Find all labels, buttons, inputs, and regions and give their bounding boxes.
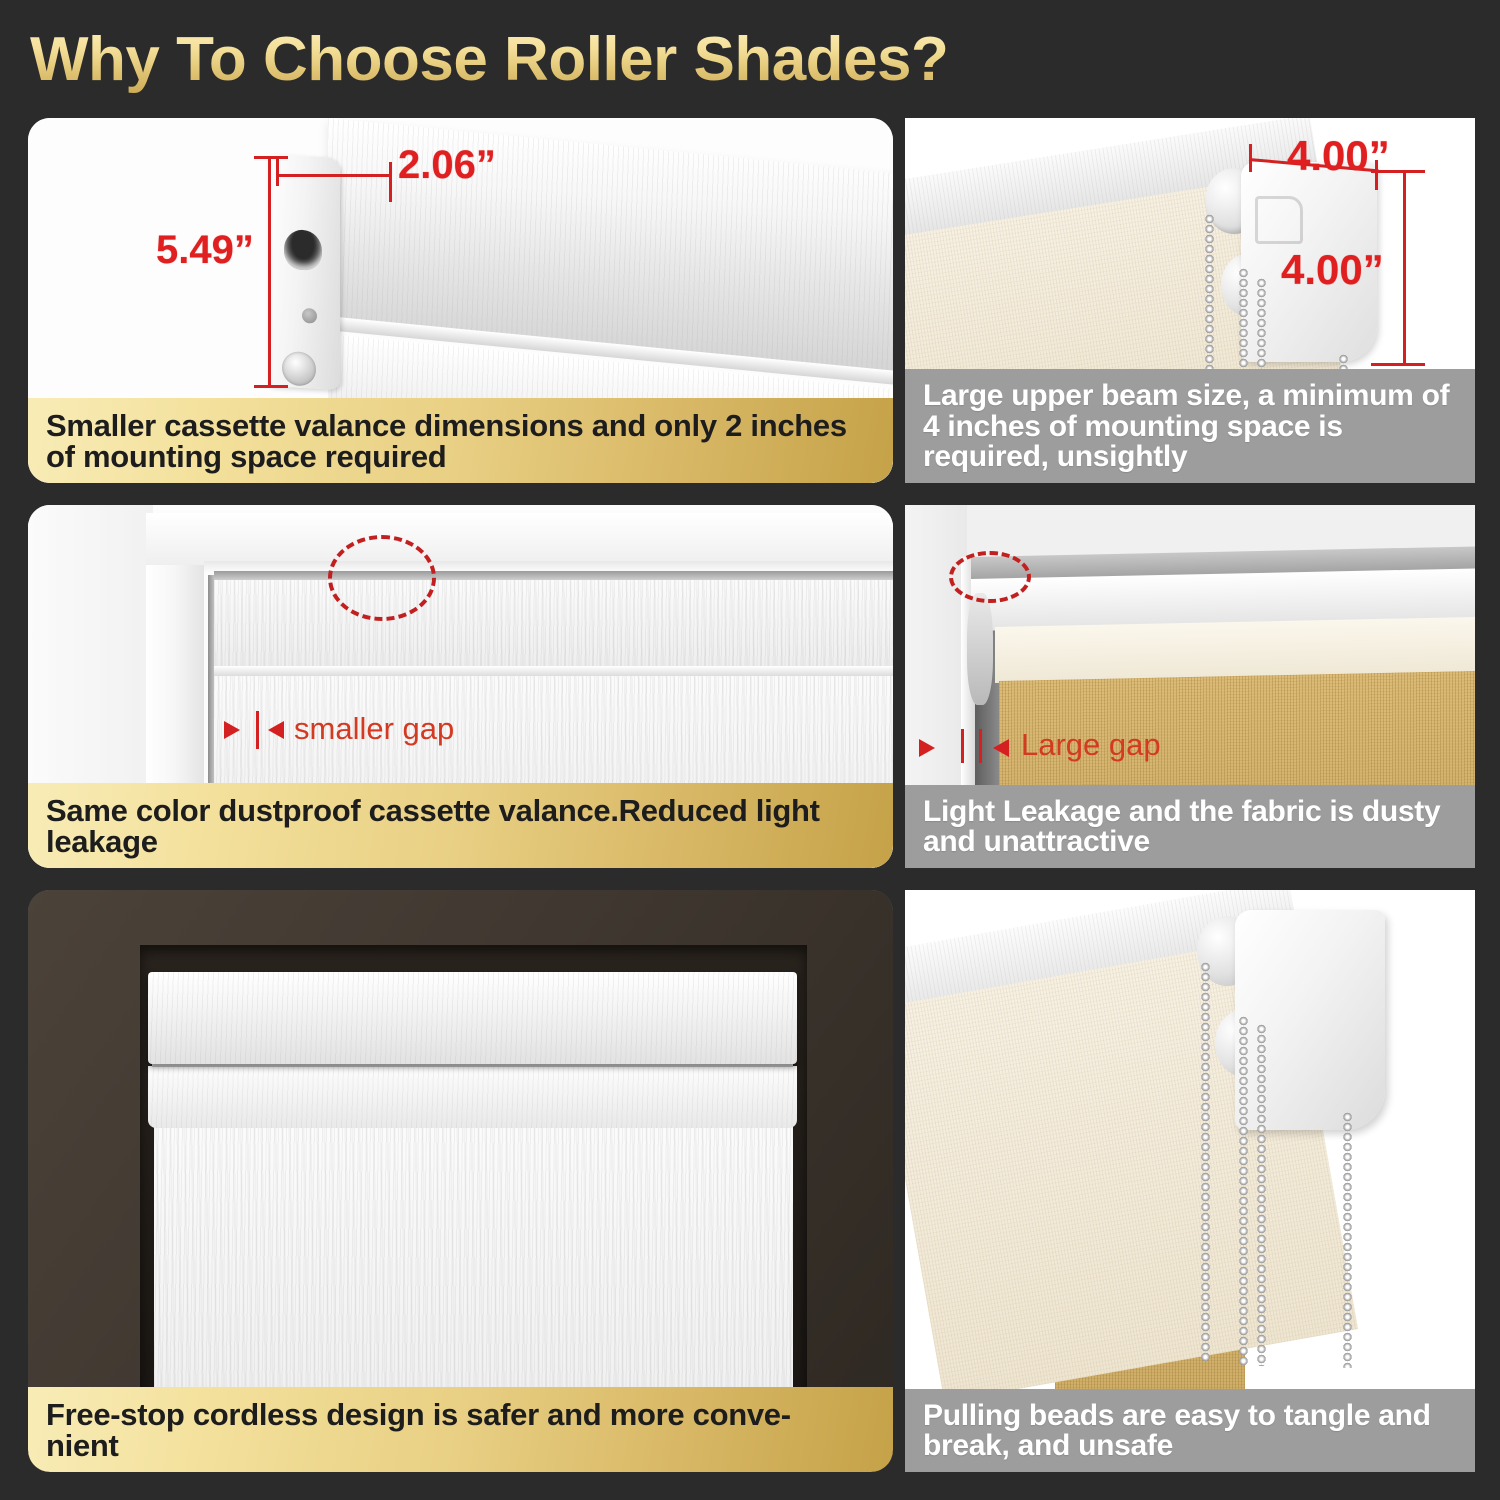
bead-chain-4-icon [1343,1112,1352,1368]
width-dim-line [276,174,392,177]
width-dimension-label: 2.06” [398,143,496,188]
width-tick-right [389,162,392,202]
infographic-root: Why To Choose Roller Shades? 2.06” 5.49” [0,0,1500,1500]
page-title: Why To Choose Roller Shades? [30,22,1330,97]
gap-arrow-right-icon [919,739,935,757]
smaller-gap-label: smaller gap [294,711,454,747]
width-tick-left [276,158,279,186]
beam-height-tick-bottom [1371,363,1425,366]
height-tick-bottom [254,385,288,388]
height-tick-top [254,156,288,159]
panel-6-photo [905,890,1475,1472]
shade-fabric-upper [214,580,893,666]
panel-5-caption: Free-stop cordless design is safer and m… [28,1387,893,1472]
panel-2-caption: Large upper beam size, a minimum of 4 in… [905,369,1475,483]
highlight-circle-icon [949,551,1031,603]
gap-arrow-left-icon [993,739,1009,757]
headrail [214,571,893,580]
bead-chain-1-icon [1201,962,1210,1362]
panel-light-leakage: Large gap Light Leakage and the fabric i… [905,505,1475,868]
gap-tick [256,711,259,749]
end-bracket [268,154,340,390]
highlight-circle-icon [328,535,436,621]
large-gap-label: Large gap [1021,727,1161,763]
roller-tube [148,1066,797,1128]
gap-arrow-right-icon [224,721,240,739]
bracket-screw-lower-icon [282,351,316,387]
bracket-port-icon [284,229,322,271]
panel-pulling-beads: Pulling beads are easy to tangle and bre… [905,890,1475,1472]
panel-smaller-cassette-valance: 2.06” 5.49” Smaller cassette valance dim… [28,118,893,483]
panel-6-caption: Pulling beads are easy to tangle and bre… [905,1389,1475,1472]
panel-5-photo [28,890,893,1472]
bead-chain-3-icon [1257,1024,1266,1366]
panel-dustproof-cassette: smaller gap Same color dustproof cassett… [28,505,893,868]
height-dimension-label: 5.49” [156,228,254,273]
cassette-valance [148,972,797,1064]
panel-4-caption: Light Leakage and the fabric is dusty an… [905,785,1475,868]
panel-cordless-design: Free-stop cordless design is safer and m… [28,890,893,1472]
panel-1-caption: Smaller cassette valance dimensions and … [28,398,893,483]
beam-height-dim-line [1403,170,1406,366]
window-frame-top [146,513,893,565]
panel-large-upper-beam: 4.00” 4.00” Large upper beam size, a min… [905,118,1475,483]
panel-3-caption: Same color dustproof cassette valance.Re… [28,783,893,868]
gap-tick-right [979,729,982,763]
bead-chain-2-icon [1239,1016,1248,1366]
gap-tick-left [961,729,964,763]
shade-seam [214,666,893,676]
roller-end-cap [967,593,993,705]
height-dim-line [268,156,271,388]
bracket-screw-upper-icon [302,308,317,324]
beam-height-label: 4.00” [1281,246,1384,294]
gap-arrow-left-icon [268,721,284,739]
beam-height-tick-top [1371,170,1425,173]
